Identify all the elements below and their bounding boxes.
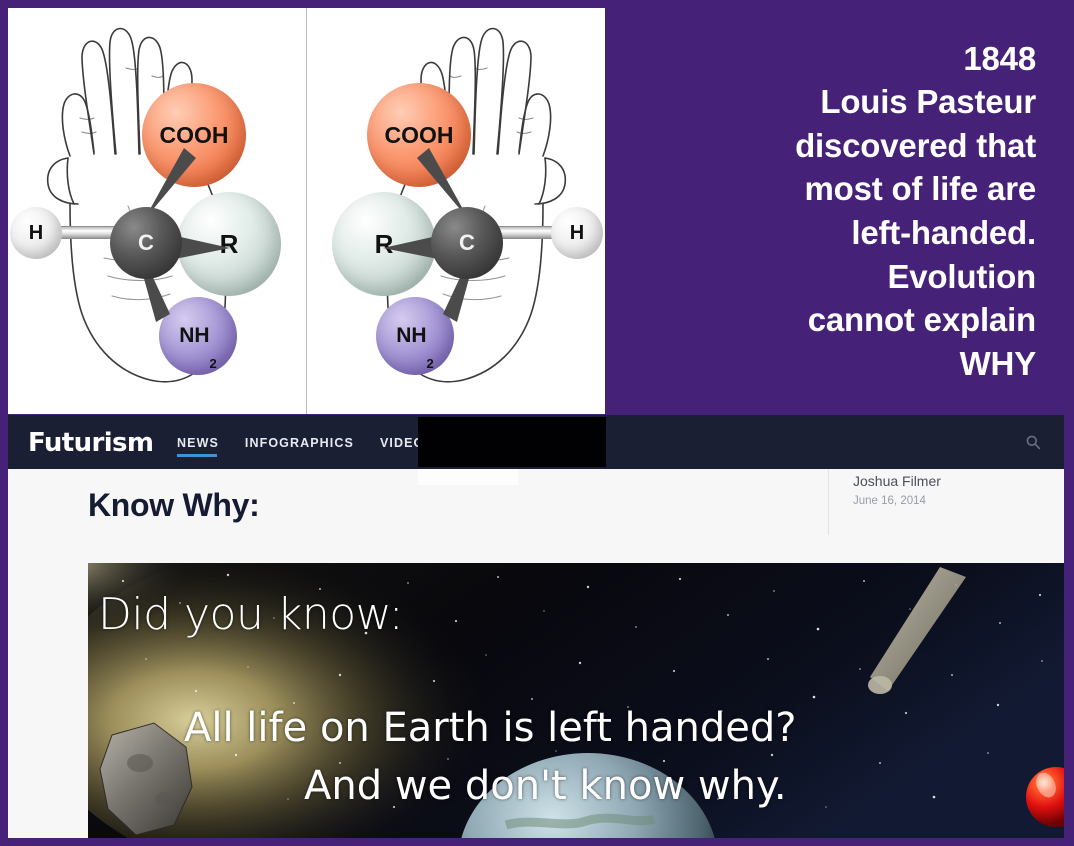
banner-caption-panel: 1848 Louis Pasteur discovered that most … — [605, 8, 1066, 414]
article-hero-image: Did you know: All life on Earth is left … — [88, 563, 1064, 838]
byline-date: June 16, 2014 — [853, 495, 1064, 507]
atom-carbon: C — [431, 207, 503, 279]
atom-label-hydrogen: H — [29, 222, 43, 245]
byline: Joshua Filmer June 16, 2014 — [828, 469, 1064, 535]
article-area: Know Why: Joshua Filmer June 16, 2014 — [8, 469, 1064, 838]
hero-text-line-3: And we don't know why. — [304, 763, 787, 809]
byline-author[interactable]: Joshua Filmer — [853, 471, 1064, 492]
banner-caption-text: 1848 Louis Pasteur discovered that most … — [795, 37, 1066, 385]
frame-border-top — [0, 0, 1074, 8]
right-handed-molecule: COOH R C NH2 H — [307, 8, 605, 414]
site-navbar: Futurism NEWSINFOGRAPHICSVIDEOS — [8, 415, 1064, 469]
blocked-ad-placeholder — [418, 417, 606, 467]
frame-border-right — [1064, 0, 1074, 846]
nav-item-news[interactable]: NEWS — [177, 436, 219, 457]
top-banner: COOH R C NH2 H — [8, 8, 1066, 414]
atom-hydrogen: H — [10, 207, 62, 259]
search-icon[interactable] — [1025, 434, 1041, 450]
page-root: COOH R C NH2 H — [0, 0, 1074, 846]
atom-label-hydrogen: H — [570, 222, 584, 245]
site-logo[interactable]: Futurism — [28, 428, 153, 458]
nav-item-infographics[interactable]: INFOGRAPHICS — [245, 436, 354, 457]
atom-label-nh2-sub: 2 — [210, 356, 217, 375]
atom-label-carbon: C — [138, 230, 154, 256]
frame-border-bottom — [0, 838, 1074, 846]
hero-text-line-2: All life on Earth is left handed? — [184, 705, 796, 751]
frame-border-left — [0, 0, 8, 846]
atom-label-carbon: C — [459, 230, 475, 256]
left-handed-molecule: COOH R C NH2 H — [8, 8, 306, 414]
page-title: Know Why: — [88, 487, 260, 524]
atom-carbon: C — [110, 207, 182, 279]
nav-overlay-artifact — [418, 469, 518, 485]
hero-text-line-1: Did you know: — [98, 589, 403, 640]
atom-label-nh2-sub: 2 — [427, 356, 434, 375]
atom-hydrogen: H — [551, 207, 603, 259]
chirality-illustration: COOH R C NH2 H — [8, 8, 605, 414]
